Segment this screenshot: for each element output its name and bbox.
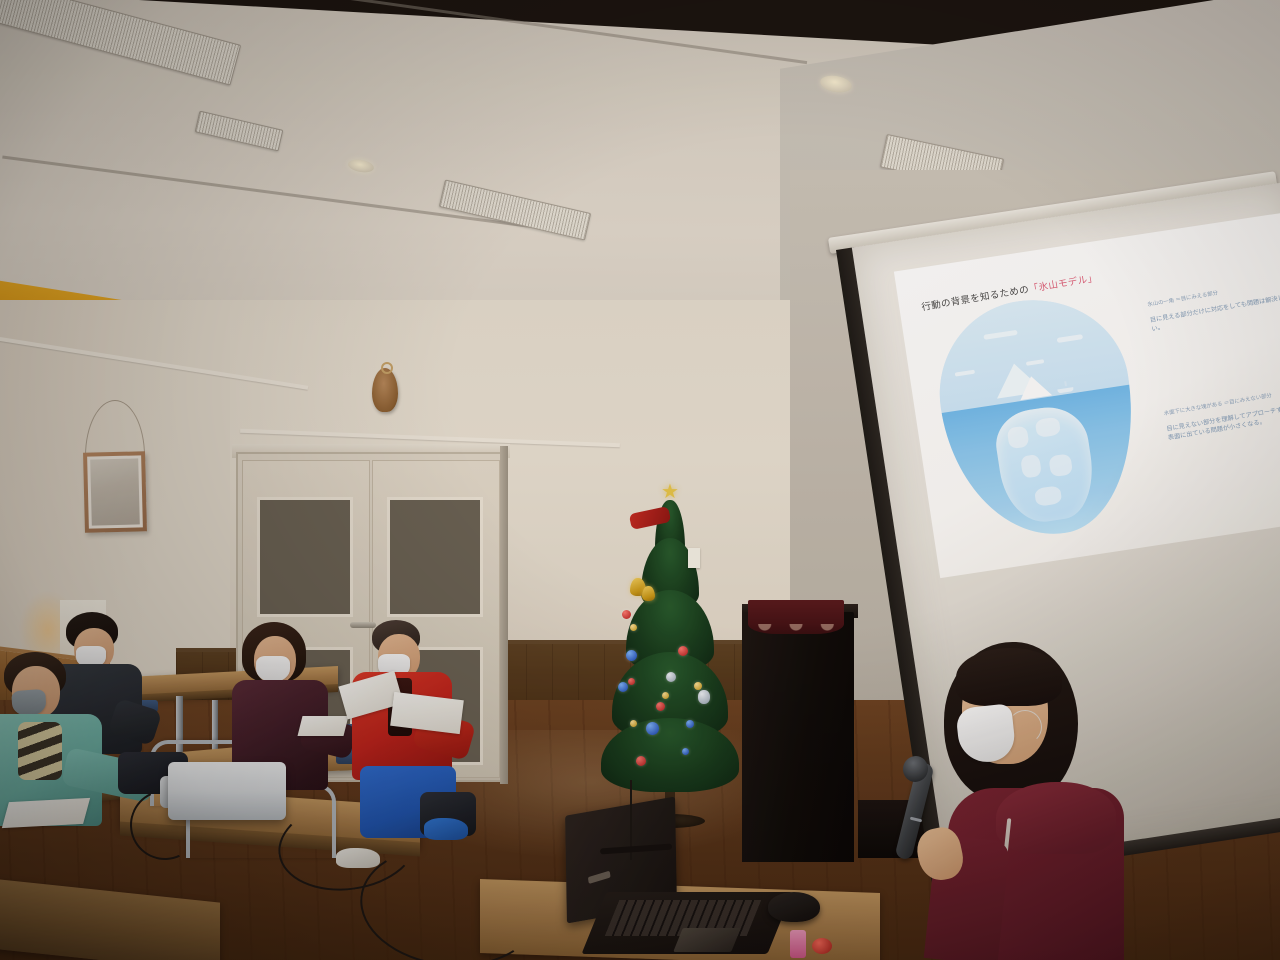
hoodie-hood	[996, 782, 1116, 854]
presenter-with-microphone	[900, 632, 1130, 960]
tree-ornament	[630, 624, 637, 631]
projected-slide: 行動の背景を知るための「氷山モデル」	[894, 212, 1280, 578]
tree-star-icon: ★	[661, 482, 679, 502]
tree-ornament	[618, 682, 628, 692]
door-track	[500, 446, 508, 784]
laptop-trackpad[interactable]	[673, 928, 741, 952]
red-desk-item	[812, 938, 832, 954]
door-panel	[257, 497, 353, 617]
tree-ornament	[622, 610, 631, 619]
iceberg-blob	[927, 287, 1150, 549]
tree-ornament	[666, 672, 676, 682]
tree-ornament	[636, 756, 646, 766]
inner-shirt	[18, 722, 62, 780]
laptop-logo	[588, 871, 611, 884]
face-mask	[256, 656, 290, 682]
computer-mouse[interactable]	[768, 892, 820, 922]
wooden-wall-ornament	[372, 368, 398, 412]
ice-facet	[1035, 416, 1061, 437]
tree-ornament	[646, 722, 659, 735]
iceberg-diagram	[927, 287, 1150, 549]
upright-piano	[742, 612, 854, 862]
picture-image	[90, 458, 140, 525]
tree-ornament	[686, 720, 694, 728]
tree-tag	[688, 548, 700, 568]
tree-ornament	[694, 682, 702, 690]
tree-ornament	[656, 702, 665, 711]
door-handle[interactable]	[350, 622, 376, 628]
shoe	[424, 818, 468, 840]
tree-ornament	[678, 646, 688, 656]
ice-facet	[1048, 454, 1073, 477]
paper-sheet	[298, 716, 349, 736]
ice-facet	[1007, 426, 1030, 449]
photo-scene: ★	[0, 0, 1280, 960]
slide-note-above-water: 氷山の一角 ＝目にみえる部分 目に見える部分だけに対応をしても問題は解決しない。	[1147, 277, 1280, 335]
christmas-tree: ★	[600, 486, 740, 822]
pink-desk-item	[790, 930, 806, 958]
piano-cover-trim	[750, 624, 842, 636]
tree-ornament	[628, 678, 635, 685]
ice-facet	[1020, 454, 1041, 479]
hair-bangs	[956, 648, 1062, 706]
mask-ear-strap	[1008, 710, 1042, 744]
tree-bell-ornament	[642, 586, 655, 601]
ice-facet	[1034, 485, 1062, 507]
framed-picture	[83, 451, 147, 532]
tree-ornament	[682, 748, 689, 755]
tree-ornament	[626, 650, 637, 661]
tree-ornament	[630, 720, 637, 727]
door-panel	[387, 497, 483, 617]
slide-note-below-water: 水面下に大きな塊がある ＝目にみえない部分 目に見えない部分を理解してアプローチ…	[1163, 385, 1280, 443]
tree-ornament	[698, 690, 710, 704]
tree-ornament	[662, 692, 669, 699]
paper-sheet	[2, 798, 90, 828]
